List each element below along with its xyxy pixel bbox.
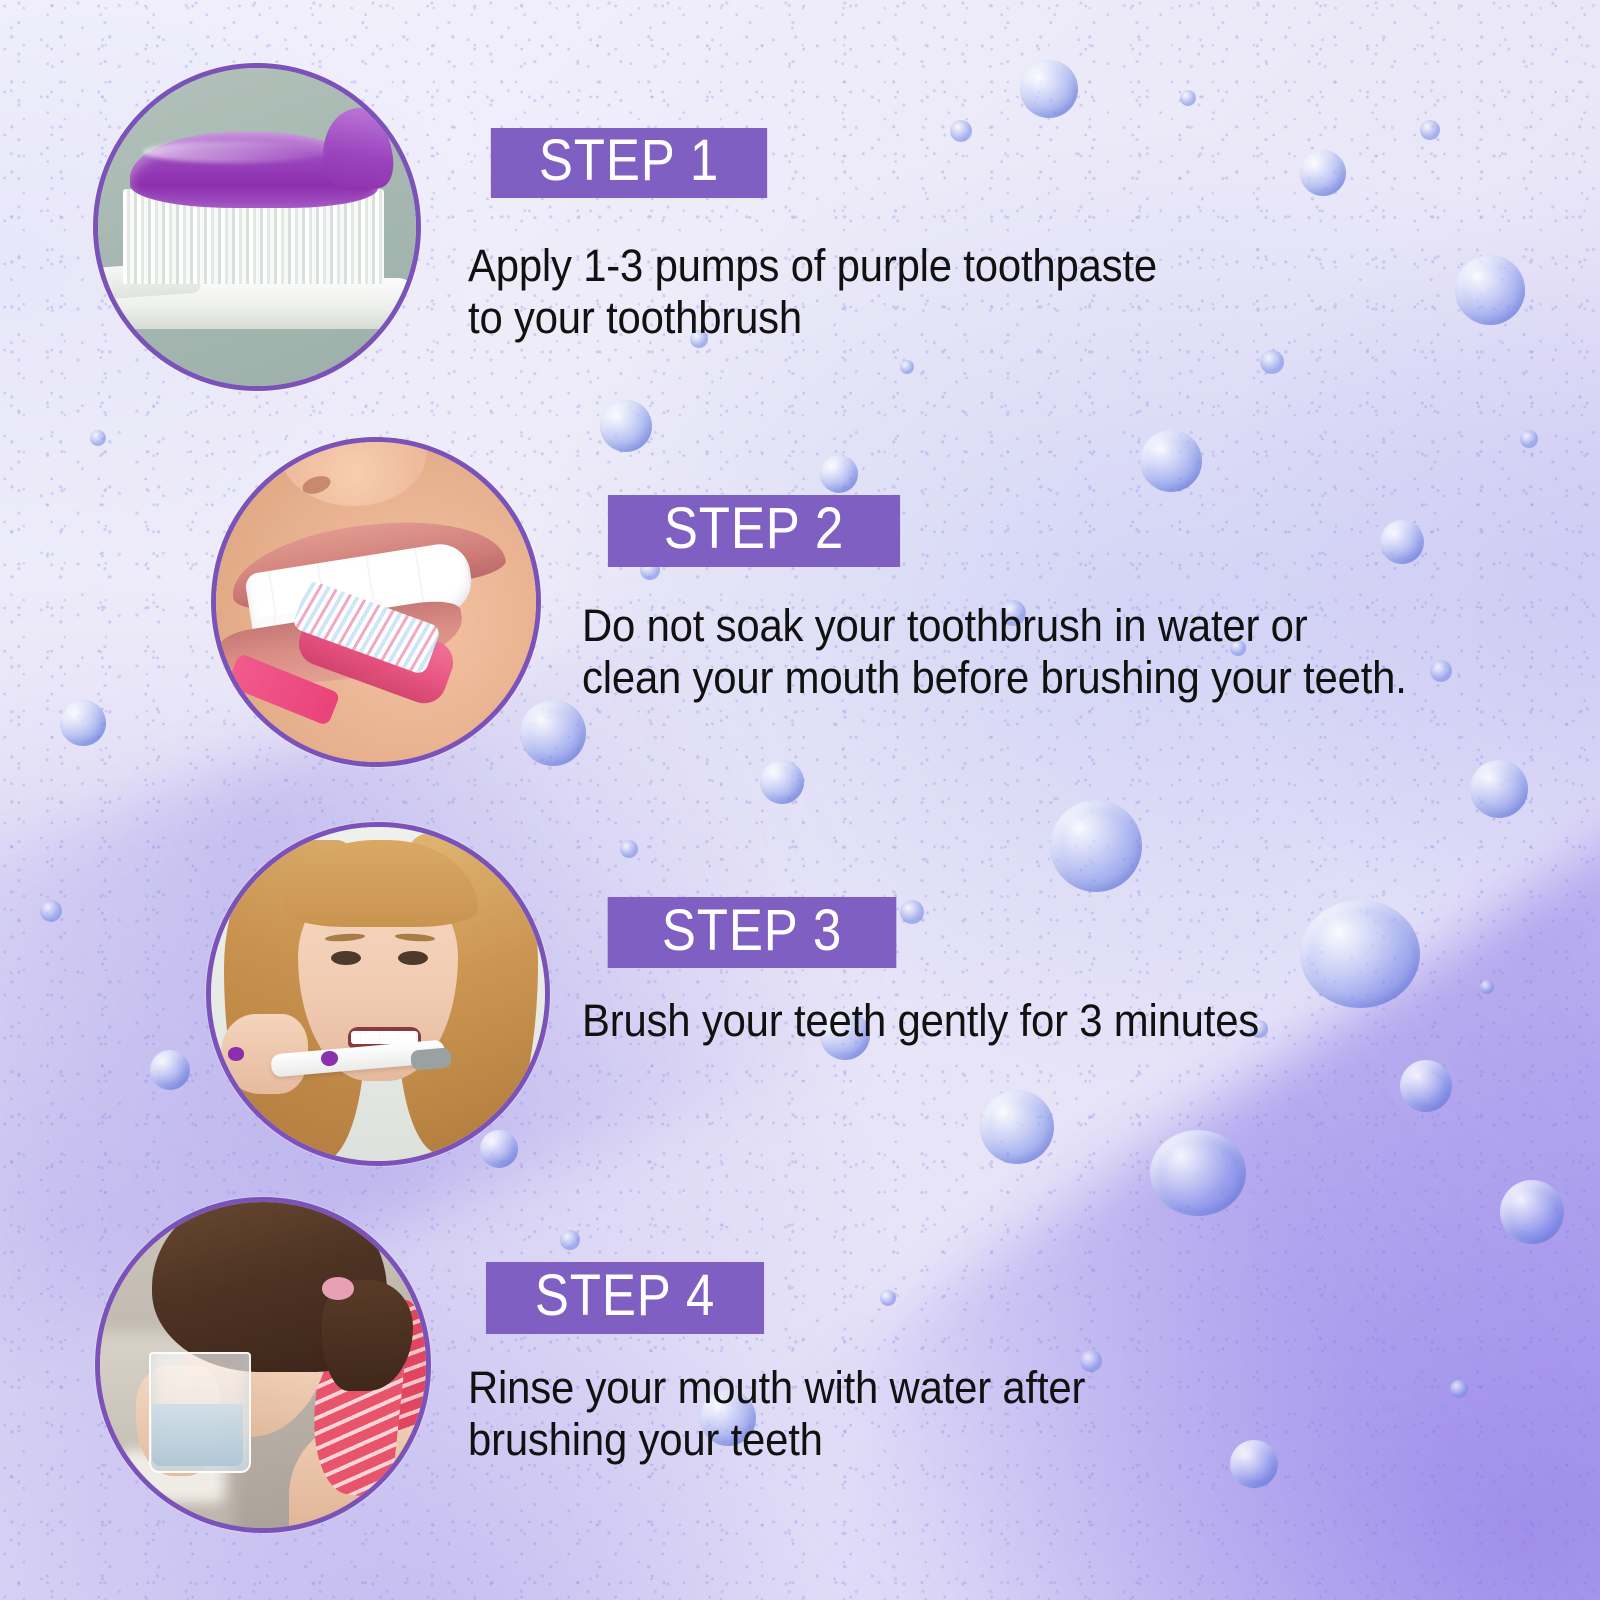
step-3-badge: STEP 3 <box>608 897 897 968</box>
step-4-photo-girl-drinking-water <box>95 1197 431 1533</box>
step-2-badge: STEP 2 <box>608 495 900 567</box>
step-1-description: Apply 1-3 pumps of purple toothpaste to … <box>468 240 1268 344</box>
toothbrush-illustration <box>98 68 416 386</box>
smiling-mouth-illustration <box>216 442 536 762</box>
step-4-badge: STEP 4 <box>486 1262 764 1334</box>
step-3-description: Brush your teeth gently for 3 minutes <box>582 995 1456 1047</box>
girl-drinking-water-illustration <box>100 1202 426 1528</box>
step-1-photo-toothbrush-with-paste <box>93 63 421 391</box>
step-3-photo-woman-brushing-teeth <box>206 822 550 1166</box>
step-2-badge-label: STEP 2 <box>664 500 844 558</box>
step-3-badge-label: STEP 3 <box>662 902 842 960</box>
infographic-canvas: STEP 1 Apply 1-3 pumps of purple toothpa… <box>0 0 1600 1600</box>
step-4-description: Rinse your mouth with water after brushi… <box>468 1362 1286 1466</box>
step-2-description: Do not soak your toothbrush in water or … <box>582 600 1503 704</box>
step-4-badge-label: STEP 4 <box>535 1267 715 1325</box>
step-1-badge-label: STEP 1 <box>539 132 719 190</box>
woman-brushing-illustration <box>211 827 545 1161</box>
step-2-photo-smiling-mouth-with-toothbrush <box>211 437 541 767</box>
step-1-badge: STEP 1 <box>491 128 767 198</box>
